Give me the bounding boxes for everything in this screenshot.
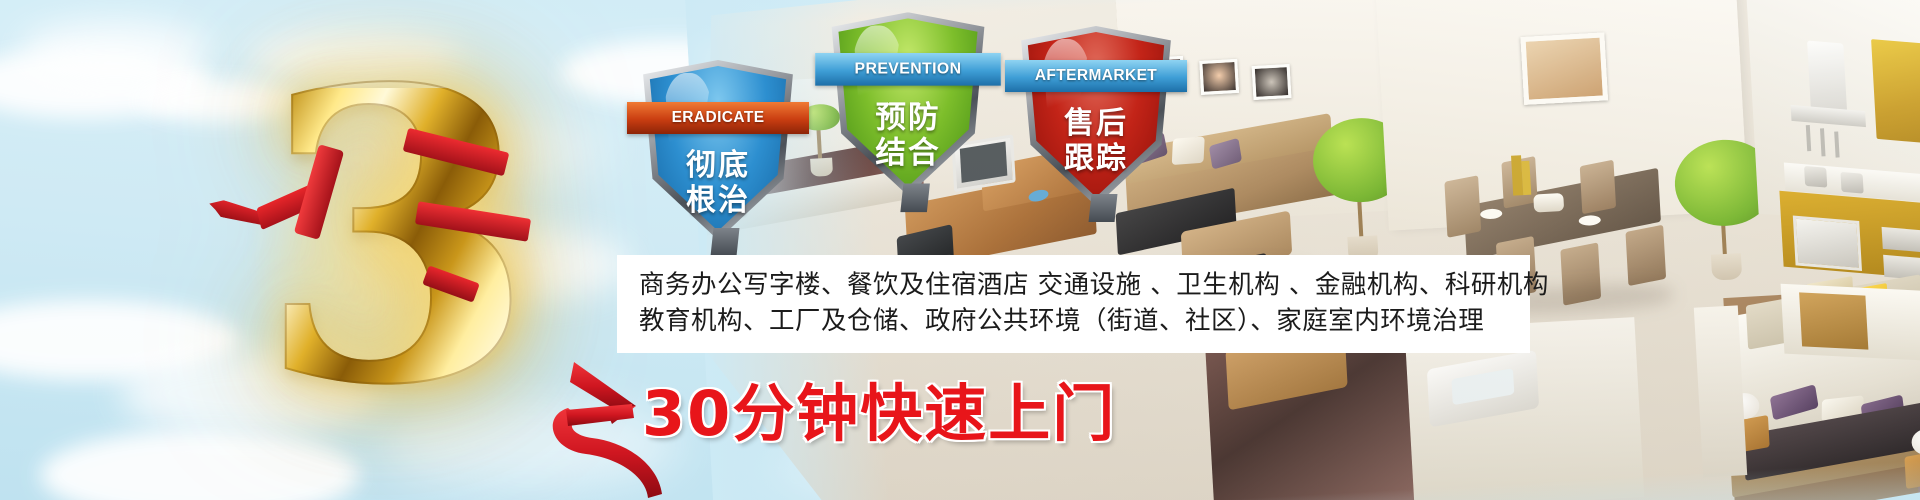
service-promo-banner: 3 bbox=[0, 0, 1920, 500]
service-scope-panel: 商务办公写字楼、餐饮及住宿酒店 交通设施 、卫生机构 、金融机构、科研机构 教育… bbox=[617, 255, 1530, 353]
shield-badge-prevention: 预防 结合 PREVENTION bbox=[828, 12, 987, 196]
shield-ribbon-band: PREVENTION bbox=[815, 53, 1001, 86]
headline-30min-fast-onsite: 30分钟快速上门 bbox=[642, 363, 1116, 453]
shield-band-label: PREVENTION bbox=[855, 60, 962, 78]
shield-inner: 彻底 根治 bbox=[647, 66, 789, 231]
shield-cn-line1: 预防 bbox=[836, 100, 981, 136]
shield-cn-line1: 彻底 bbox=[647, 148, 789, 183]
shield-cn-line2: 结合 bbox=[836, 136, 981, 172]
ribbon-arrow-head bbox=[570, 362, 636, 410]
shield-badge-eradicate: 彻底 根治 ERADICATE bbox=[640, 60, 796, 240]
shield-band-label: ERADICATE bbox=[672, 109, 765, 127]
shield-stand bbox=[1088, 194, 1117, 222]
gold-numeral: 3 bbox=[232, 88, 562, 418]
scope-line-2: 教育机构、工厂及仓储、政府公共环境（街道、社区）、家庭室内环境治理 bbox=[639, 303, 1512, 339]
hero-number-3: 3 bbox=[232, 88, 562, 418]
shield-inner: 售后 跟踪 bbox=[1025, 32, 1167, 197]
scope-line-1: 商务办公写字楼、餐饮及住宿酒店 交通设施 、卫生机构 、金融机构、科研机构 bbox=[639, 267, 1512, 303]
shield-cn-line2: 根治 bbox=[647, 183, 789, 218]
shield-stand bbox=[710, 228, 739, 256]
shield-band-label: AFTERMARKET bbox=[1035, 67, 1157, 85]
shield-cn-line2: 跟踪 bbox=[1025, 141, 1167, 176]
shield-cn-line1: 售后 bbox=[1025, 106, 1167, 141]
shield-cn-text: 彻底 根治 bbox=[647, 148, 789, 219]
shield-cn-text: 预防 结合 bbox=[836, 100, 981, 172]
shield-badge-aftermarket: 售后 跟踪 AFTERMARKET bbox=[1018, 26, 1174, 206]
shield-ribbon-band: AFTERMARKET bbox=[1005, 60, 1187, 92]
shield-ribbon-band: ERADICATE bbox=[627, 102, 809, 134]
ribbon-band bbox=[566, 404, 634, 426]
shield-cn-text: 售后 跟踪 bbox=[1025, 106, 1167, 177]
shield-stand bbox=[900, 184, 930, 213]
shield-inner: 预防 结合 bbox=[836, 18, 981, 186]
